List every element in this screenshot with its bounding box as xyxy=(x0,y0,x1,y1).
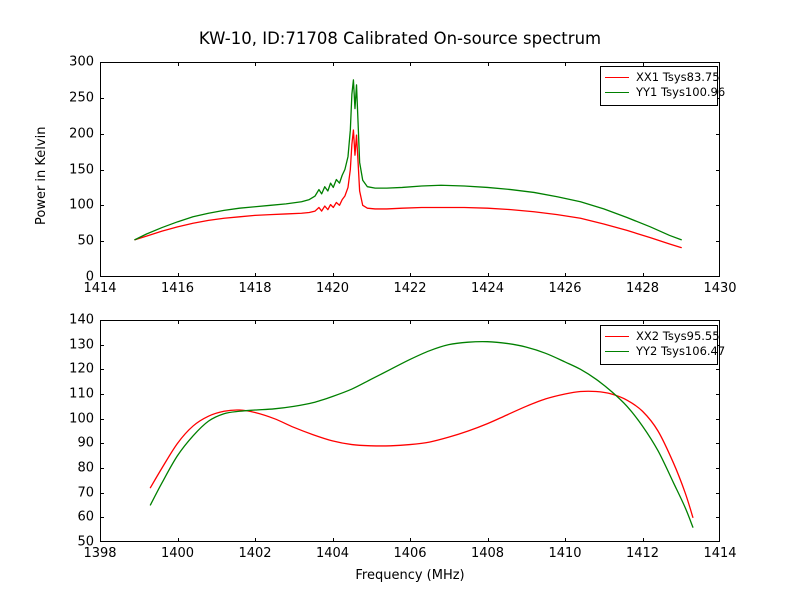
legend-label: YY1 Tsys100.96 xyxy=(636,86,725,99)
bottom-panel-ytick-label: 50 xyxy=(48,535,94,550)
top-panel-ytick-label: 250 xyxy=(48,90,94,105)
bottom-panel-xtick-label: 1410 xyxy=(548,546,581,561)
bottom-panel-ytick-label: 60 xyxy=(48,510,94,525)
legend-entry: XX1 Tsys83.75 xyxy=(605,70,712,85)
bottom-panel-ytick-label: 80 xyxy=(48,461,94,476)
top-panel-ytick-label: 300 xyxy=(48,55,94,70)
top-panel-xtick-label: 1428 xyxy=(626,281,659,296)
legend-entry: YY1 Tsys100.96 xyxy=(605,85,712,100)
figure-canvas: KW-10, ID:71708 Calibrated On-source spe… xyxy=(0,0,800,600)
legend-line-swatch xyxy=(605,351,629,352)
bottom-panel-legend: XX2 Tsys95.55YY2 Tsys106.47 xyxy=(600,325,718,365)
bottom-panel-ytick-label: 120 xyxy=(48,362,94,377)
legend-line-swatch xyxy=(605,336,629,337)
bottom-panel-ytick-label: 100 xyxy=(48,411,94,426)
top-panel-xtick-label: 1420 xyxy=(316,281,349,296)
figure-title: KW-10, ID:71708 Calibrated On-source spe… xyxy=(0,29,800,48)
top-panel-xtick-label: 1430 xyxy=(703,281,736,296)
top-panel-ytick-label: 150 xyxy=(48,162,94,177)
legend-label: XX2 Tsys95.55 xyxy=(636,330,720,343)
series-line-0 xyxy=(135,130,681,248)
legend-entry: YY2 Tsys106.47 xyxy=(605,344,712,359)
top-panel-ytick-label: 100 xyxy=(48,198,94,213)
bottom-panel-xtick-label: 1408 xyxy=(471,546,504,561)
bottom-panel-xtick-label: 1402 xyxy=(238,546,271,561)
top-panel-legend: XX1 Tsys83.75YY1 Tsys100.96 xyxy=(600,66,718,106)
data-curves xyxy=(150,342,693,528)
legend-label: XX1 Tsys83.75 xyxy=(636,71,720,84)
legend-label: YY2 Tsys106.47 xyxy=(636,345,725,358)
bottom-panel-xlabel: Frequency (MHz) xyxy=(100,568,720,583)
series-line-1 xyxy=(150,342,693,528)
bottom-panel-xtick-label: 1414 xyxy=(703,546,736,561)
bottom-panel-xtick-label: 1400 xyxy=(161,546,194,561)
bottom-panel-ytick-label: 130 xyxy=(48,337,94,352)
top-panel-ylabel: Power in Kelvin xyxy=(34,127,49,225)
bottom-panel-ytick-label: 110 xyxy=(48,387,94,402)
bottom-panel-ytick-label: 90 xyxy=(48,436,94,451)
top-panel-xtick-label: 1426 xyxy=(548,281,581,296)
bottom-panel-ytick-label: 70 xyxy=(48,485,94,500)
legend-line-swatch xyxy=(605,92,629,93)
top-panel-ytick-label: 200 xyxy=(48,126,94,141)
bottom-panel-xtick-label: 1404 xyxy=(316,546,349,561)
top-panel-ytick-label: 50 xyxy=(48,234,94,249)
legend-entry: XX2 Tsys95.55 xyxy=(605,329,712,344)
top-panel-xtick-label: 1418 xyxy=(238,281,271,296)
top-panel-xtick-label: 1424 xyxy=(471,281,504,296)
legend-line-swatch xyxy=(605,77,629,78)
bottom-panel-xtick-label: 1412 xyxy=(626,546,659,561)
bottom-panel-xtick-label: 1406 xyxy=(393,546,426,561)
series-line-0 xyxy=(150,391,693,517)
bottom-panel-ytick-label: 140 xyxy=(48,313,94,328)
top-panel-ytick-label: 0 xyxy=(48,270,94,285)
top-panel-xtick-label: 1416 xyxy=(161,281,194,296)
top-panel-xtick-label: 1422 xyxy=(393,281,426,296)
